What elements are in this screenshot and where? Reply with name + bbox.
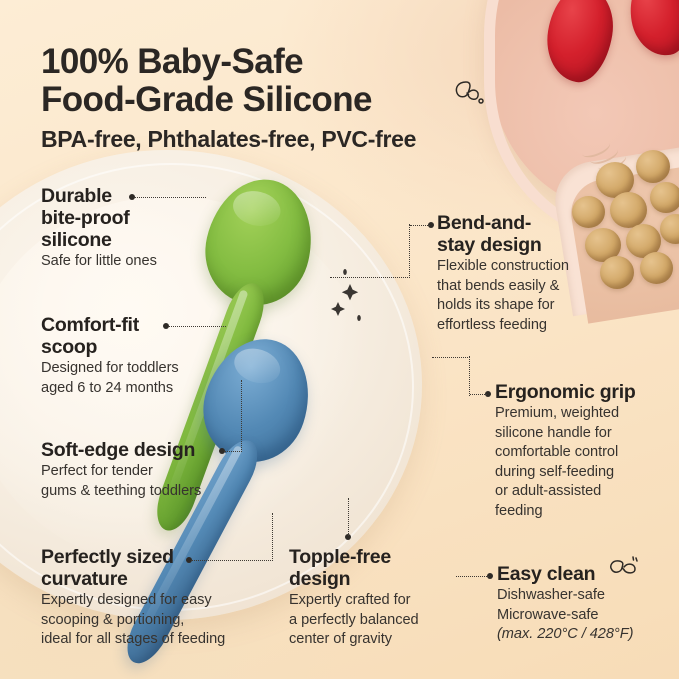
cereal-puff — [650, 182, 679, 213]
headline-subtitle: BPA-free, Phthalates-free, PVC-free — [41, 126, 511, 152]
feature-body-line: during self-feeding — [495, 464, 670, 482]
feature-ergonomic-grip: Ergonomic grip Premium, weighted silicon… — [495, 381, 670, 521]
feature-title-line: Durable — [41, 185, 206, 207]
feature-body-line: Premium, weighted — [495, 405, 670, 423]
headline-line-2: Food-Grade Silicone — [41, 81, 511, 119]
feature-title-line: design — [289, 568, 454, 590]
feature-body-line: ideal for all stages of feeding — [41, 631, 271, 649]
feature-title-line: Ergonomic grip — [495, 381, 670, 403]
feature-body-line: gums & teething toddlers — [41, 483, 246, 501]
feature-durable-bite-proof-silicone: Durable bite-proof silicone Safe for lit… — [41, 185, 206, 271]
headline-line-1: 100% Baby-Safe — [41, 43, 511, 81]
feature-body-line: Expertly designed for easy — [41, 592, 271, 610]
feature-title-line: bite-proof — [41, 207, 206, 229]
feature-body-line: center of gravity — [289, 631, 454, 649]
feature-body-line: a perfectly balanced — [289, 612, 454, 630]
bow-doodle-icon — [607, 555, 639, 583]
feature-body-line: Microwave-safe — [497, 607, 672, 625]
feature-body-line: Expertly crafted for — [289, 592, 454, 610]
feature-body-line: or adult-assisted — [495, 483, 670, 501]
feature-body-line: scooping & portioning, — [41, 612, 271, 630]
feature-body-line: Designed for toddlers — [41, 360, 221, 378]
cereal-puff — [640, 252, 673, 284]
feature-perfectly-sized-curvature: Perfectly sized curvature Expertly desig… — [41, 546, 271, 649]
headline-block: 100% Baby-Safe Food-Grade Silicone BPA-f… — [41, 43, 511, 152]
feature-body-line: Perfect for tender — [41, 463, 246, 481]
feature-comfort-fit-scoop: Comfort-fit scoop Designed for toddlers … — [41, 314, 221, 397]
feature-title-line: stay design — [437, 234, 617, 256]
feature-body-line: Flexible construction — [437, 258, 617, 276]
feature-body-line: Safe for little ones — [41, 253, 206, 271]
feature-title-line: Comfort-fit — [41, 314, 221, 336]
feature-title-line: silicone — [41, 229, 206, 251]
feature-body-line: holds its shape for — [437, 297, 617, 315]
feature-body-line-italic: (max. 220°C / 428°F) — [497, 626, 672, 644]
feature-body-line: aged 6 to 24 months — [41, 380, 221, 398]
feature-body-line: feeding — [495, 503, 670, 521]
feature-body-line: comfortable control — [495, 444, 670, 462]
feature-title-line: curvature — [41, 568, 271, 590]
feature-topple-free-design: Topple-free design Expertly crafted for … — [289, 546, 454, 649]
feature-bend-and-stay-design: Bend-and- stay design Flexible construct… — [437, 212, 617, 334]
feature-title-line: scoop — [41, 336, 221, 358]
cereal-puff — [636, 150, 670, 183]
feature-body-line: that bends easily & — [437, 278, 617, 296]
feature-body-line: silicone handle for — [495, 425, 670, 443]
product-infographic: 100% Baby-Safe Food-Grade Silicone BPA-f… — [0, 0, 679, 679]
feature-title-line: Easy clean — [497, 563, 672, 585]
feature-title-line: Topple-free — [289, 546, 454, 568]
feature-body-line: effortless feeding — [437, 317, 617, 335]
feature-title-line: Bend-and- — [437, 212, 617, 234]
bow-doodle-icon — [452, 78, 484, 108]
feature-title-line: Perfectly sized — [41, 546, 271, 568]
feature-easy-clean: Easy clean Dishwasher-safe Microwave-saf… — [497, 563, 672, 644]
feature-title-line: Soft-edge design — [41, 439, 246, 461]
feature-soft-edge-design: Soft-edge design Perfect for tender gums… — [41, 439, 246, 500]
feature-body-line: Dishwasher-safe — [497, 587, 672, 605]
